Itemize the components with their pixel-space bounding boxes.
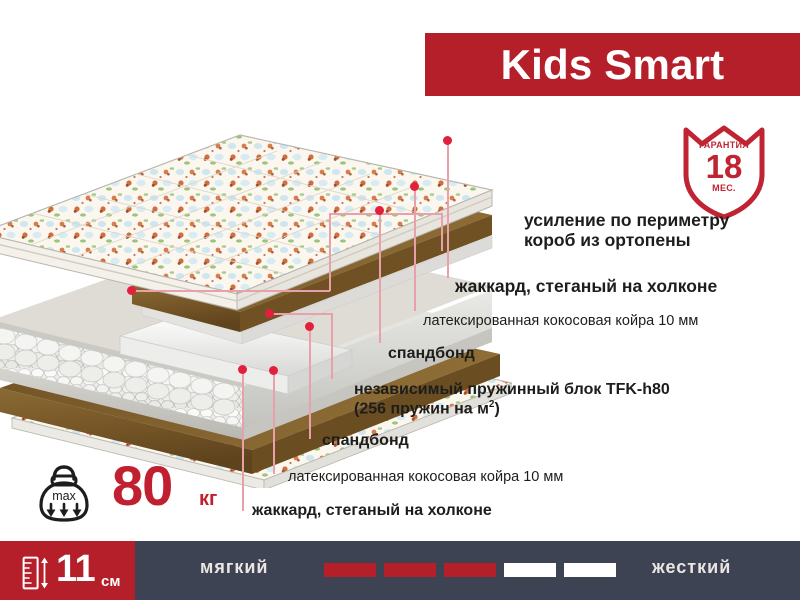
layer-label-spunbond-top: спандбонд — [388, 345, 475, 363]
leader-line-jacquard-top — [447, 140, 449, 278]
layer-label-perimeter: усиление по периметру короб из ортопены — [524, 211, 729, 250]
shield-icon — [678, 124, 770, 220]
infographic-canvas: Kids Smart ГАРАНТИЯ 18 МЕС. усиление по … — [0, 0, 800, 600]
leader-line-spring-block — [269, 313, 332, 315]
callout-dot-spunbond-top — [375, 206, 384, 215]
leader-line-coir-bottom — [273, 370, 275, 474]
firmness-segment-2[interactable] — [384, 563, 436, 577]
firmness-segment-1[interactable] — [324, 563, 376, 577]
firmness-segment-3[interactable] — [444, 563, 496, 577]
callout-dot-coir-top — [410, 182, 419, 191]
callout-dot-jacquard-top — [443, 136, 452, 145]
max-weight-block: max 80 кг — [36, 462, 236, 526]
callout-dot-spunbond-bottom — [305, 322, 314, 331]
mattress-cutaway-illustration — [0, 88, 512, 488]
layer-label-coir-top: латексированная кокосовая койра 10 мм — [423, 313, 698, 329]
leader-line-perimeter — [131, 290, 330, 292]
leader-line-spunbond-top — [379, 210, 381, 343]
layer-label-jacquard-bottom: жаккард, стеганый на холконе — [252, 502, 492, 520]
leader-line-spring-block-riser — [331, 313, 333, 379]
kettlebell-icon: max — [36, 464, 92, 524]
kettlebell-max-label: max — [52, 489, 76, 503]
layer-label-spring-block: независимый пружинный блок TFK-h80 (256 … — [354, 381, 670, 418]
leader-line-spunbond-bottom — [309, 326, 311, 439]
callout-dot-jacquard-bottom — [238, 365, 247, 374]
leader-line-perimeter-riser — [329, 213, 331, 291]
product-title-banner: Kids Smart — [425, 33, 800, 96]
warranty-badge: ГАРАНТИЯ 18 МЕС. — [678, 124, 770, 220]
callout-dot-perimeter — [127, 286, 136, 295]
layer-label-spunbond-bottom: спандбонд — [322, 432, 409, 450]
leader-line-coir-top — [414, 186, 416, 311]
layer-label-coir-bottom: латексированная кокосовая койра 10 мм — [288, 469, 563, 485]
height-value: 11 — [56, 550, 95, 588]
max-weight-value: 80 — [112, 458, 172, 514]
firmness-hard-label: жесткий — [652, 557, 731, 578]
page-title: Kids Smart — [501, 44, 725, 86]
layer-label-spring-block-second: (256 пружин на м2) — [354, 399, 670, 418]
leader-line-perimeter-end — [441, 213, 443, 251]
height-unit: см — [101, 573, 120, 590]
firmness-segment-5[interactable] — [564, 563, 616, 577]
leader-line-jacquard-bottom — [242, 369, 244, 511]
firmness-segment-4[interactable] — [504, 563, 556, 577]
leader-line-perimeter-top — [329, 213, 442, 215]
callout-dot-spring-block — [265, 309, 274, 318]
callout-dot-coir-bottom — [269, 366, 278, 375]
layer-label-jacquard-top: жаккард, стеганый на холконе — [455, 277, 717, 297]
max-weight-unit: кг — [199, 488, 217, 511]
ruler-icon — [22, 556, 52, 590]
firmness-soft-label: мягкий — [200, 557, 268, 578]
